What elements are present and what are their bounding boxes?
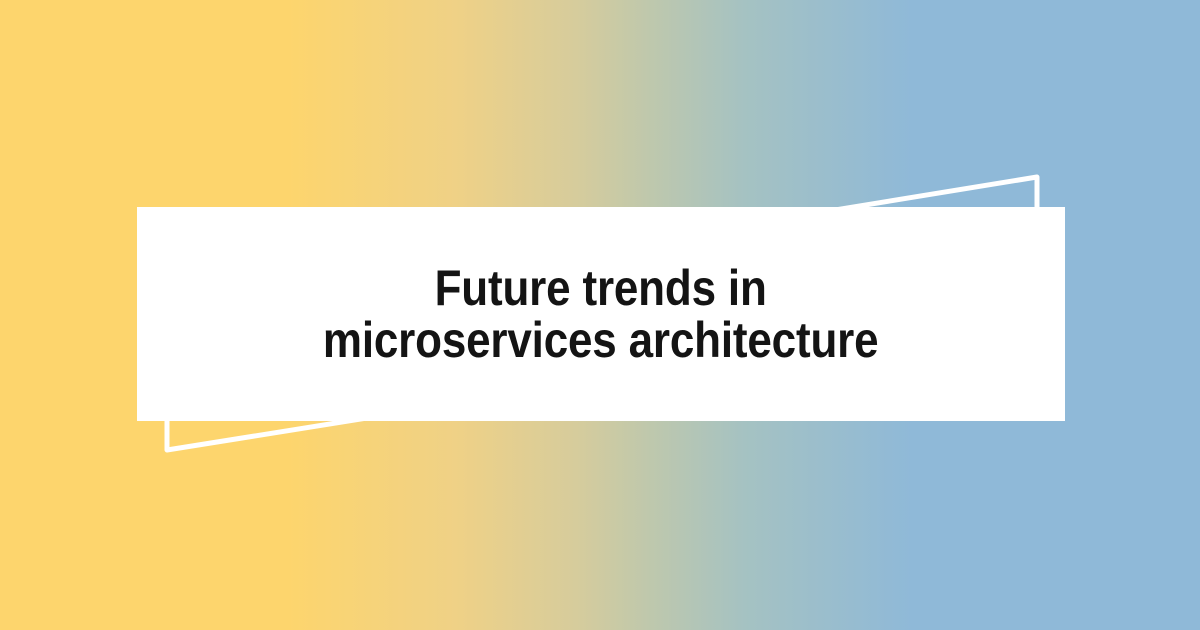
page-title: Future trends in microservices architect…: [288, 262, 914, 366]
title-banner: Future trends in microservices architect…: [0, 0, 1200, 630]
title-card: Future trends in microservices architect…: [137, 207, 1065, 421]
